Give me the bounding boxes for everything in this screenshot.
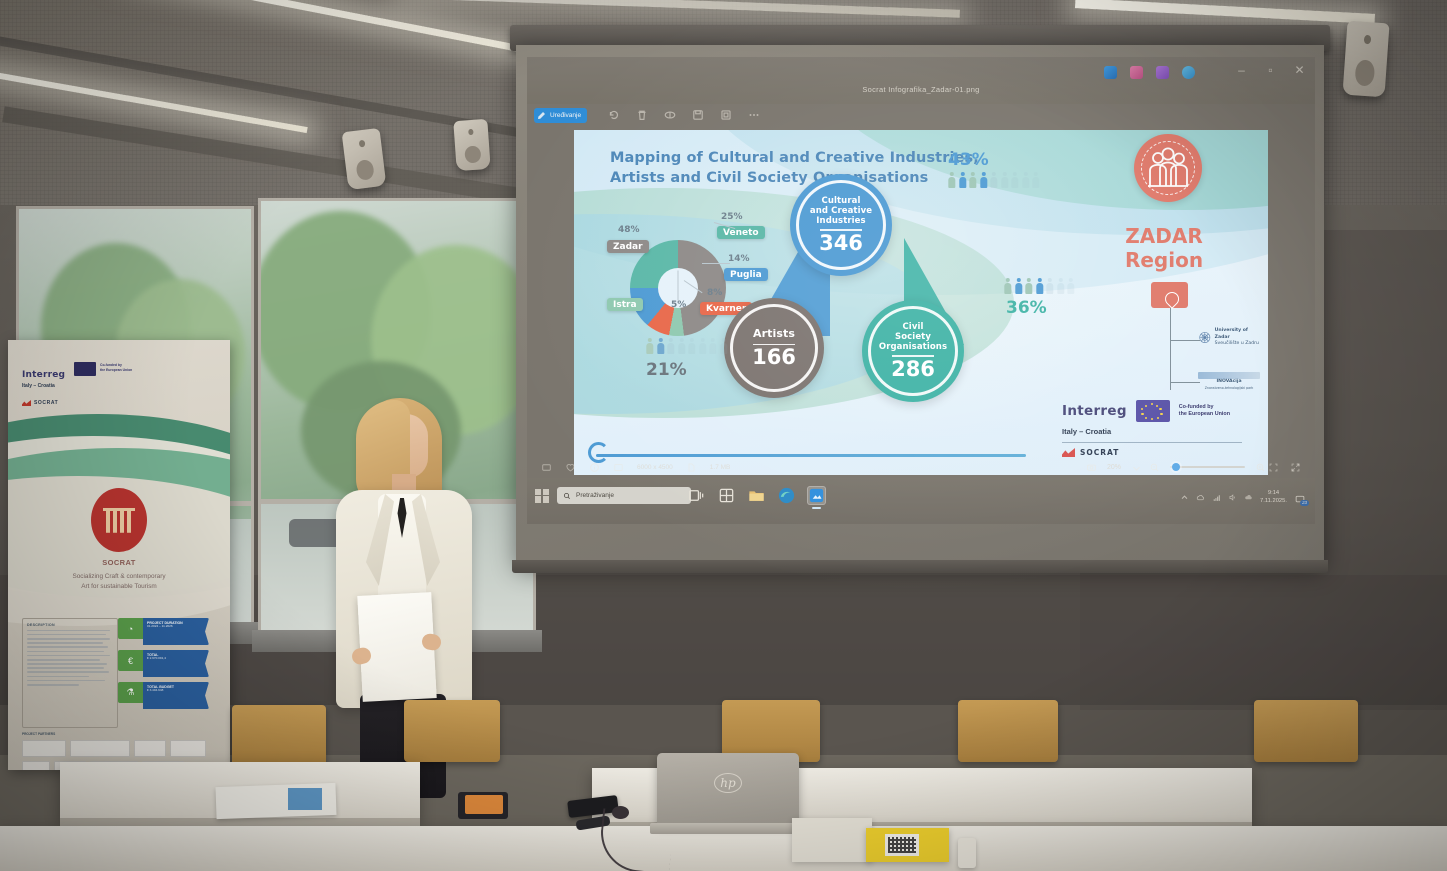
footer-divider bbox=[1062, 442, 1242, 443]
pct-cso: 36% bbox=[1006, 298, 1047, 318]
circle-civil-society-organisations: CivilSocietyOrganisations 286 bbox=[862, 300, 964, 402]
photos-app-icon[interactable] bbox=[1104, 66, 1117, 79]
person-icon bbox=[948, 172, 956, 188]
close-button[interactable]: ✕ bbox=[1292, 63, 1307, 78]
edit-button[interactable]: Uređivanje bbox=[534, 108, 587, 123]
person-icon bbox=[1004, 278, 1012, 294]
person-icon bbox=[969, 172, 977, 188]
clock-icon: ◔ bbox=[118, 618, 143, 639]
gallery-app-icon[interactable] bbox=[1130, 66, 1143, 79]
crop-icon[interactable] bbox=[719, 108, 733, 122]
person-icon bbox=[1015, 278, 1023, 294]
person-icon bbox=[667, 338, 675, 354]
person-icon bbox=[1025, 278, 1033, 294]
person-icon bbox=[1046, 278, 1054, 294]
onedrive-icon[interactable] bbox=[1196, 493, 1205, 502]
banner-eu-text: Co-funded by the European Union bbox=[100, 363, 132, 373]
person-icon bbox=[709, 338, 717, 354]
donut-pct-zadar: 48% bbox=[618, 225, 640, 235]
image-filesize: 1.7 MB bbox=[710, 464, 731, 471]
windows-start-icon[interactable] bbox=[535, 489, 549, 503]
status-left-group[interactable]: 6000 x 4500 1.7 MB bbox=[541, 462, 730, 473]
chair-backrest bbox=[404, 700, 500, 762]
partner-name-1: University of Zadar bbox=[1215, 328, 1248, 340]
partner-name-2: INOVAcija bbox=[1216, 379, 1241, 384]
banner-fact-budget: ⚗ TOTAL BUDGET € 3.494.648 bbox=[118, 682, 209, 709]
banner-interreg-wordmark: Interreg bbox=[22, 364, 65, 382]
blue-handout bbox=[288, 788, 322, 810]
banner-fact-text: TOTAL BUDGET € 3.494.648 bbox=[143, 682, 209, 709]
person-icon bbox=[1022, 172, 1030, 188]
taskbar-pinned-apps[interactable] bbox=[687, 486, 826, 505]
person-icon bbox=[699, 338, 707, 354]
banner-interreg-text: Interreg bbox=[22, 370, 65, 380]
zoom-level[interactable]: 20% bbox=[1107, 464, 1121, 471]
photos-icon[interactable] bbox=[807, 486, 826, 505]
region-title: ZADAR Region bbox=[1094, 224, 1234, 273]
taskbar-start-group[interactable]: Pretraživanje bbox=[535, 487, 691, 504]
app-toolbar[interactable]: Uređivanje bbox=[527, 104, 1315, 132]
partner-logo-mark bbox=[1198, 372, 1260, 379]
partner-sub-1: Sveučilište u Zadru bbox=[1215, 341, 1259, 346]
zoom-slider-handle[interactable] bbox=[1172, 463, 1180, 471]
delete-icon[interactable] bbox=[635, 108, 649, 122]
infographic-image[interactable]: Mapping of Cultural and Creative Industr… bbox=[574, 130, 1268, 475]
chair-backrest bbox=[232, 705, 326, 767]
projection-screen-bottom-bar bbox=[512, 560, 1328, 573]
maximize-button[interactable]: ▫ bbox=[1263, 63, 1278, 78]
banner-description-box: DESCRIPTION bbox=[22, 618, 118, 728]
chair-backrest bbox=[1254, 700, 1358, 762]
titlebar-app-icons bbox=[1104, 66, 1195, 79]
task-view-icon[interactable] bbox=[687, 486, 706, 505]
info-icon[interactable] bbox=[589, 462, 600, 473]
fact-value: 01.2024 – 11.2026 bbox=[147, 625, 205, 629]
zoom-slider[interactable] bbox=[1170, 466, 1245, 468]
banner-fact-text: TOTAL € 2.970.091,4 bbox=[143, 650, 209, 677]
edge-browser-icon[interactable] bbox=[777, 486, 796, 505]
circle-value-cci: 346 bbox=[819, 233, 863, 254]
partner-logo bbox=[22, 761, 50, 770]
map-pin-icon bbox=[1151, 282, 1188, 308]
minimize-button[interactable]: – bbox=[1234, 63, 1249, 78]
onedrive-icon[interactable] bbox=[1182, 66, 1195, 79]
region-name: ZADAR bbox=[1125, 224, 1202, 248]
tree-connector-branch-1 bbox=[1170, 340, 1200, 341]
window-controls[interactable]: – ▫ ✕ bbox=[1234, 63, 1307, 78]
person-icon bbox=[1036, 278, 1044, 294]
clock-date: 7.11.2025. bbox=[1260, 498, 1287, 504]
banner-fact-total: € TOTAL € 2.970.091,4 bbox=[118, 650, 209, 677]
widgets-icon[interactable] bbox=[717, 486, 736, 505]
qr-card bbox=[885, 834, 919, 856]
three-people-icon bbox=[1134, 134, 1202, 202]
donut-label-istra: Istra bbox=[607, 298, 643, 311]
programme-name: Italy – Croatia bbox=[1062, 427, 1242, 436]
leader-line bbox=[678, 271, 679, 301]
toolbar-icon-group[interactable] bbox=[607, 108, 761, 122]
fact-value: € 3.494.648 bbox=[147, 689, 205, 693]
pct-artists: 21% bbox=[646, 360, 687, 380]
partner-logo-university-of-zadar: University of ZadarSveučilište u Zadru bbox=[1198, 328, 1260, 348]
eu-stars bbox=[1136, 400, 1170, 422]
people-row-artists bbox=[646, 338, 728, 354]
clock-time: 9:14 bbox=[1268, 490, 1279, 496]
donut-label-zadar: Zadar bbox=[607, 240, 649, 253]
qr-code bbox=[888, 837, 916, 853]
undo-icon[interactable] bbox=[607, 108, 621, 122]
circle-cultural-creative-industries: Culturaland CreativeIndustries 346 bbox=[790, 174, 892, 276]
save-icon[interactable] bbox=[691, 108, 705, 122]
person-icon bbox=[1067, 278, 1075, 294]
notification-icon[interactable]: 23 bbox=[1294, 492, 1306, 503]
chevron-down-icon[interactable] bbox=[1131, 463, 1139, 471]
remote-control bbox=[958, 838, 976, 868]
person-icon bbox=[720, 338, 728, 354]
network-icon[interactable] bbox=[1212, 493, 1221, 502]
eu-flag-icon bbox=[1136, 400, 1170, 422]
partner-sub-2: Znanstveno-tehnologijski park bbox=[1205, 386, 1254, 390]
person-icon bbox=[1057, 278, 1065, 294]
window-titlebar[interactable]: Socrat Infografika_Zadar-01.png – ▫ ✕ bbox=[527, 57, 1315, 104]
banner-socrat-logo: SOCRAT bbox=[22, 400, 58, 406]
fullscreen-icon[interactable] bbox=[1290, 462, 1301, 473]
fit-to-screen-icon[interactable] bbox=[541, 462, 552, 473]
donut-pct-puglia: 14% bbox=[728, 254, 750, 264]
weather-icon[interactable] bbox=[1244, 493, 1253, 502]
volume-icon[interactable] bbox=[1228, 493, 1237, 502]
partner-logo bbox=[170, 740, 206, 757]
person-icon bbox=[688, 338, 696, 354]
banner-socrat-text: SOCRAT bbox=[34, 400, 58, 406]
person-icon bbox=[959, 172, 967, 188]
taskbar-clock[interactable]: 9:14 7.11.2025. bbox=[1260, 489, 1287, 506]
hp-logo: hp bbox=[714, 773, 742, 793]
favorite-icon[interactable] bbox=[565, 462, 576, 473]
screenshot-icon[interactable] bbox=[1086, 462, 1097, 473]
banner-eu-flag-icon bbox=[74, 362, 96, 376]
circle-value-artists: 166 bbox=[752, 347, 796, 368]
system-tray[interactable]: 9:14 7.11.2025. 23 bbox=[1180, 489, 1306, 506]
interreg-wordmark: Interreg bbox=[1062, 403, 1127, 419]
tree-connector-vertical bbox=[1170, 308, 1171, 390]
filesize-icon bbox=[686, 462, 697, 473]
ceiling-speaker-left bbox=[342, 128, 387, 190]
ceiling-speaker-mid bbox=[453, 119, 490, 171]
fact-value: € 2.970.091,4 bbox=[147, 657, 205, 661]
pct-cci: 43% bbox=[948, 150, 989, 170]
folder-app-icon[interactable] bbox=[1156, 66, 1169, 79]
banner-programme: Italy – Croatia bbox=[22, 383, 55, 389]
interreg-footer: Interreg Co-funded by the European Union… bbox=[1062, 400, 1242, 457]
ceiling-speaker-right bbox=[1342, 21, 1389, 98]
banner-subtitle: Socializing Craft & contemporary Art for… bbox=[18, 572, 220, 591]
banner-partners-heading: PROJECT PARTNERS bbox=[22, 732, 216, 736]
zoom-in-icon[interactable] bbox=[1255, 462, 1266, 473]
rotate-icon[interactable] bbox=[663, 108, 677, 122]
image-dimensions: 6000 x 4500 bbox=[637, 464, 673, 471]
chair-backrest bbox=[958, 700, 1058, 762]
banner-title: SOCRAT bbox=[8, 558, 230, 567]
conference-room-photo: Socrat Infografika_Zadar-01.png – ▫ ✕ Ur… bbox=[0, 0, 1447, 871]
person-icon bbox=[980, 172, 988, 188]
more-options-icon[interactable] bbox=[747, 108, 761, 122]
partner-logo bbox=[134, 740, 166, 757]
donut-pct-kvarner: 8% bbox=[707, 288, 722, 298]
partner-logo bbox=[70, 740, 130, 757]
photos-app-window[interactable]: Socrat Infografika_Zadar-01.png – ▫ ✕ Ur… bbox=[527, 57, 1315, 524]
search-icon bbox=[563, 492, 571, 500]
person-icon bbox=[678, 338, 686, 354]
zoom-control-group[interactable]: 20% bbox=[1086, 456, 1301, 478]
donut-label-veneto: Veneto bbox=[717, 226, 765, 239]
person-icon bbox=[1032, 172, 1040, 188]
person-icon bbox=[990, 172, 998, 188]
donut-label-puglia: Puglia bbox=[724, 268, 768, 281]
search-placeholder: Pretraživanje bbox=[576, 492, 614, 499]
person-icon bbox=[1011, 172, 1019, 188]
circle-label-cci: Culturaland CreativeIndustries bbox=[810, 196, 872, 226]
chair bbox=[1254, 700, 1358, 824]
windows-taskbar[interactable]: Pretraživanje 9:14 7.11.2025. bbox=[527, 478, 1315, 524]
rollup-banner: Interreg Co-funded by the European Union… bbox=[8, 340, 230, 770]
notification-count: 23 bbox=[1300, 500, 1309, 506]
orange-label bbox=[465, 795, 503, 814]
person-icon bbox=[657, 338, 665, 354]
person-icon bbox=[646, 338, 654, 354]
donut-pct-veneto: 25% bbox=[721, 212, 743, 222]
file-explorer-icon[interactable] bbox=[747, 486, 766, 505]
funds-icon: ⚗ bbox=[118, 682, 143, 703]
partner-logo bbox=[22, 740, 66, 757]
circle-label-artists: Artists bbox=[753, 328, 795, 341]
banner-fact-duration: ◔ PROJECT DURATION 01.2024 – 11.2026 bbox=[118, 618, 209, 645]
circle-artists: Artists 166 bbox=[724, 298, 824, 398]
product-box-white bbox=[792, 818, 872, 862]
leader-line bbox=[702, 263, 730, 264]
socrat-emblem-icon bbox=[91, 488, 147, 552]
circle-label-cso: CivilSocietyOrganisations bbox=[879, 322, 947, 352]
banner-fact-text: PROJECT DURATION 01.2024 – 11.2026 bbox=[143, 618, 209, 645]
socrat-logo-icon bbox=[22, 400, 31, 406]
banner-description-text bbox=[27, 630, 113, 686]
people-row-cso bbox=[1004, 278, 1075, 294]
banner-description-heading: DESCRIPTION bbox=[27, 623, 113, 627]
circle-value-cso: 286 bbox=[891, 359, 935, 380]
search-input[interactable]: Pretraživanje bbox=[557, 487, 691, 504]
laptop-lid: hp bbox=[657, 753, 799, 825]
eu-funding-text: Co-funded by the European Union bbox=[1179, 404, 1230, 419]
zoom-out-icon[interactable] bbox=[1149, 462, 1160, 473]
region-word: Region bbox=[1125, 248, 1203, 272]
dimensions-icon bbox=[613, 462, 624, 473]
people-row-cci bbox=[948, 172, 1040, 188]
tree-connector-branch-2 bbox=[1170, 382, 1200, 383]
donut-pct-istra: 5% bbox=[671, 300, 686, 310]
person-icon bbox=[1001, 172, 1009, 188]
chevron-up-icon[interactable] bbox=[1180, 493, 1189, 502]
partner-logo-inovacija: INOVAcija Znanstveno-tehnologijski park bbox=[1198, 372, 1260, 392]
window-title: Socrat Infografika_Zadar-01.png bbox=[527, 85, 1315, 94]
euro-icon: € bbox=[118, 650, 143, 671]
